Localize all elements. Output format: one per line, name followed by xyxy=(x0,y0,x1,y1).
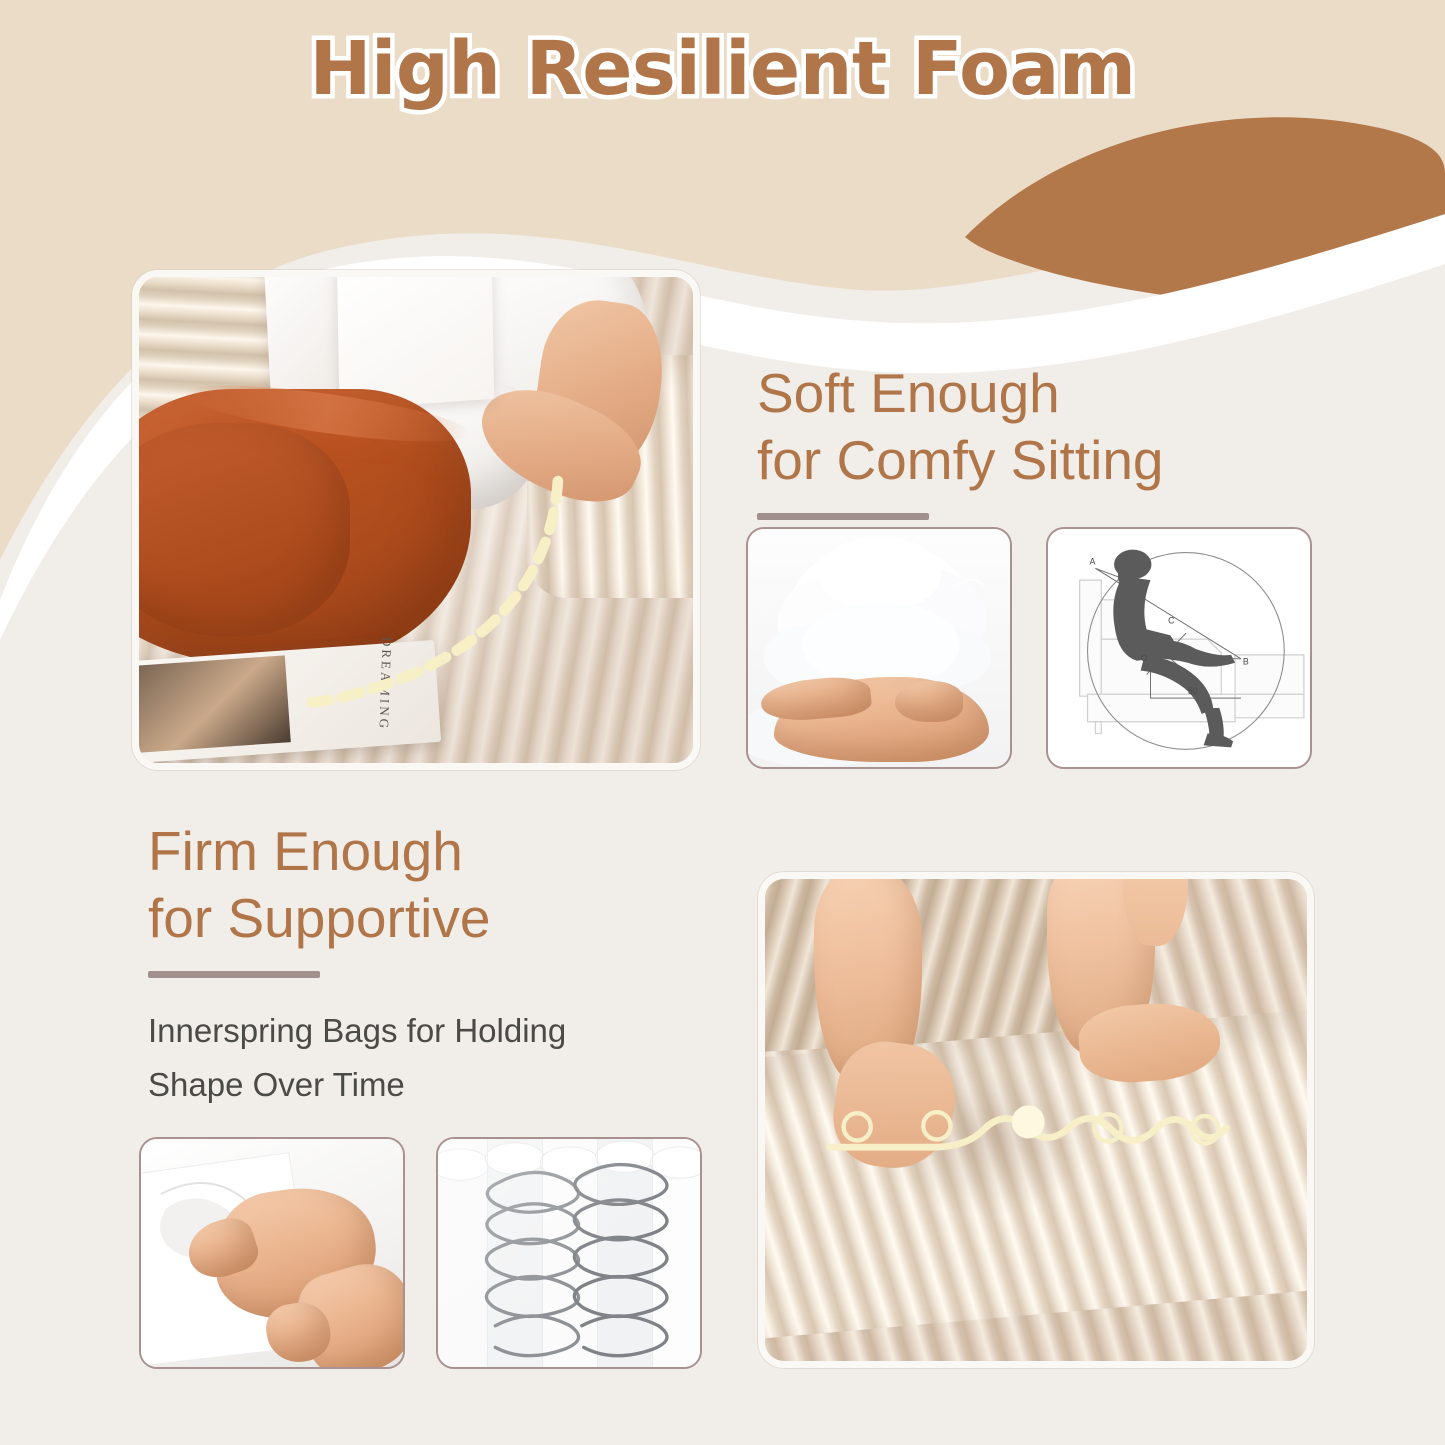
firm-heading-rule xyxy=(148,971,320,978)
dashed-curve-overlay xyxy=(139,277,693,763)
page-title: High Resilient Foam xyxy=(0,26,1445,112)
photo-pocketed-coil-springs xyxy=(436,1137,702,1369)
infographic-canvas: High Resilient Foam xyxy=(0,0,1445,1445)
ergo-label-a: A xyxy=(1090,556,1096,566)
photo-bare-feet-on-cushion xyxy=(758,872,1314,1368)
hero-photo-person-reading: DREAMING xyxy=(132,270,700,770)
ergo-label-c: C xyxy=(1168,615,1175,625)
firm-body-line-1: Innerspring Bags for Holding xyxy=(148,1004,566,1057)
photo-ergonomic-seating-diagram: A C B O 50 xyxy=(1046,527,1312,769)
fiber-cloud-shape xyxy=(764,537,991,688)
photo-hand-pressing-foam xyxy=(139,1137,405,1369)
photo-fiber-fill-in-hand xyxy=(746,527,1012,769)
soft-heading-line-2: for Comfy Sitting xyxy=(757,427,1164,494)
firm-body-line-2: Shape Over Time xyxy=(148,1058,566,1111)
firm-heading-block: Firm Enough for Supportive Innerspring B… xyxy=(148,818,566,1111)
wave-circle-filled xyxy=(1012,1105,1045,1138)
wave-line-overlay xyxy=(765,879,1307,1361)
soft-heading-rule xyxy=(757,513,929,520)
ergo-label-b: B xyxy=(1243,657,1249,667)
firm-heading-line-2: for Supportive xyxy=(148,885,566,952)
ergo-label-o: O xyxy=(1141,653,1148,663)
ergo-label-50: 50 xyxy=(1188,686,1198,696)
hand-thumb xyxy=(895,681,963,721)
firm-heading-line-1: Firm Enough xyxy=(148,818,566,885)
soft-heading-block: Soft Enough for Comfy Sitting xyxy=(757,360,1164,520)
soft-heading-line-1: Soft Enough xyxy=(757,360,1164,427)
